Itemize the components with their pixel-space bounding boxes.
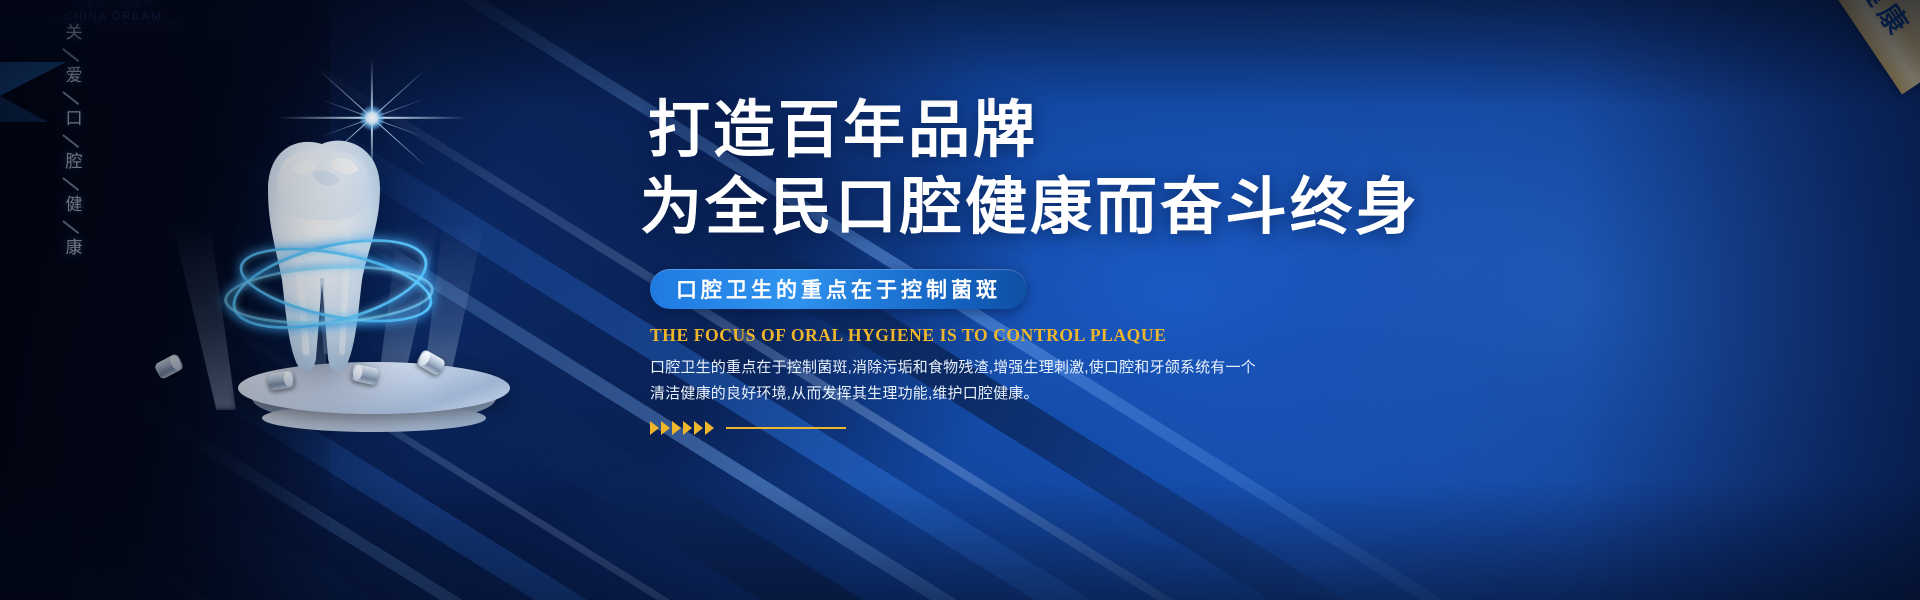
dental-promo-banner: 中国梦 / 健康梦 CHINA DREAM HEALTH IS THE FOUN… bbox=[0, 0, 1920, 600]
vignette-overlay bbox=[0, 0, 1920, 600]
